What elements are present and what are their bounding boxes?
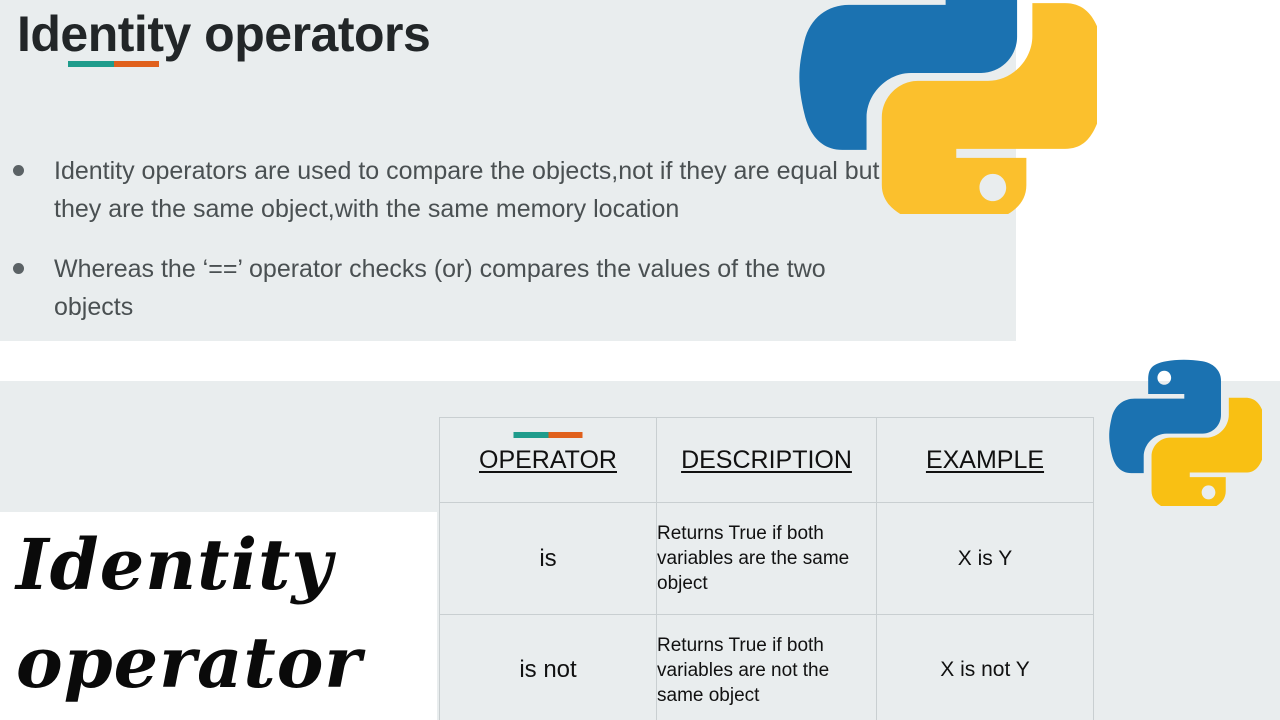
- accent-orange-segment: [548, 432, 583, 438]
- operators-table: OPERATOR DESCRIPTION EXAMPLE is Returns …: [439, 417, 1094, 720]
- cell-description: Returns True if both variables are the s…: [657, 503, 877, 615]
- python-logo-icon: [797, 0, 1097, 214]
- python-logo-icon: [1108, 352, 1262, 506]
- column-header-operator: OPERATOR: [440, 418, 657, 503]
- bullet-list: Identity operators are used to compare t…: [0, 152, 900, 348]
- cell-operator: is not: [440, 615, 657, 720]
- table-header-row: OPERATOR DESCRIPTION EXAMPLE: [440, 418, 1094, 503]
- bullet-text: Identity operators are used to compare t…: [54, 152, 900, 228]
- column-header-label: DESCRIPTION: [677, 446, 856, 475]
- table-row: is not Returns True if both variables ar…: [440, 615, 1094, 720]
- handwritten-line-1: Identity: [16, 516, 436, 614]
- handwritten-caption: Identity operator: [16, 516, 436, 712]
- table-row: is Returns True if both variables are th…: [440, 503, 1094, 615]
- cell-operator: is: [440, 503, 657, 615]
- cell-description: Returns True if both variables are not t…: [657, 615, 877, 720]
- cell-example: X is not Y: [877, 615, 1094, 720]
- column-header-label: EXAMPLE: [922, 446, 1048, 475]
- handwritten-line-2: operator: [16, 614, 436, 712]
- bullet-dot-icon: [13, 165, 24, 176]
- column-header-description: DESCRIPTION: [657, 418, 877, 503]
- slide-canvas: Identity operators Identity operators ar…: [0, 0, 1280, 720]
- list-item: Identity operators are used to compare t…: [0, 152, 900, 228]
- accent-teal-segment: [514, 432, 549, 438]
- page-title: Identity operators: [17, 7, 430, 62]
- cell-example: X is Y: [877, 503, 1094, 615]
- accent-teal-segment: [68, 61, 114, 67]
- bullet-dot-icon: [13, 263, 24, 274]
- list-item: Whereas the ‘==’ operator checks (or) co…: [0, 250, 900, 326]
- header-accent-bar: [514, 432, 583, 438]
- accent-orange-segment: [114, 61, 160, 67]
- column-header-label: OPERATOR: [475, 446, 621, 475]
- column-header-example: EXAMPLE: [877, 418, 1094, 503]
- bullet-text: Whereas the ‘==’ operator checks (or) co…: [54, 250, 900, 326]
- title-accent-bar: [68, 61, 159, 67]
